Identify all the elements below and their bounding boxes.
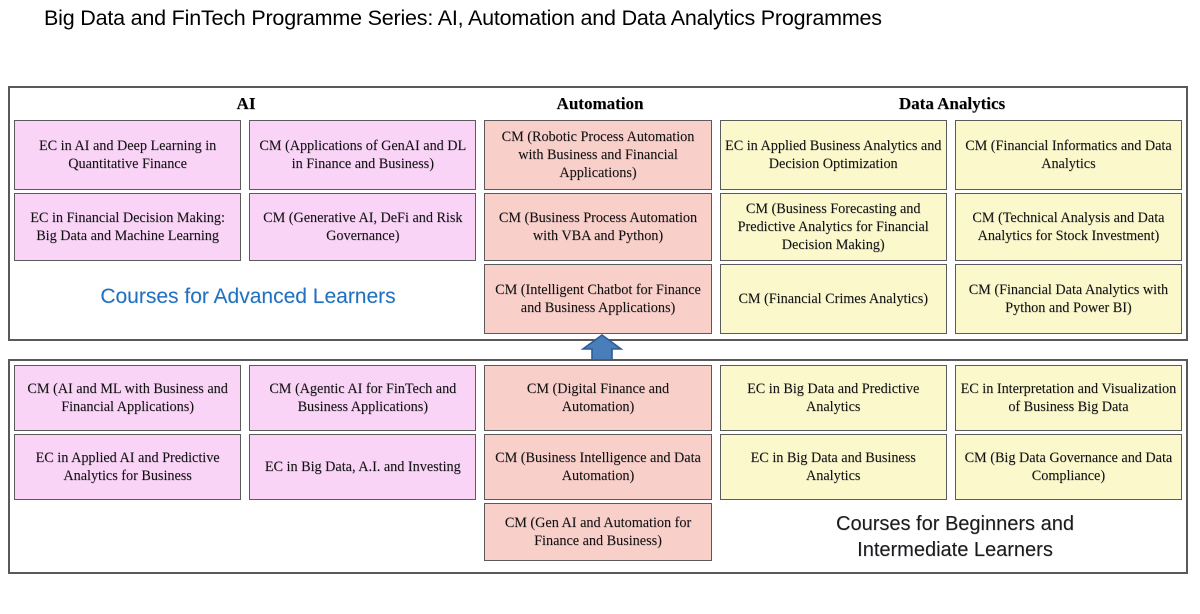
course-cell[interactable]: CM (Technical Analysis and Data Analytic… <box>955 193 1182 261</box>
course-cell[interactable]: EC in Applied Business Analytics and Dec… <box>720 120 947 190</box>
course-cell[interactable]: CM (Business Intelligence and Data Autom… <box>484 434 711 500</box>
column-header-automation: Automation <box>482 88 718 120</box>
beginner-automation-column: CM (Digital Finance and Automation) CM (… <box>480 365 715 564</box>
course-cell[interactable]: CM (Intelligent Chatbot for Finance and … <box>484 264 711 334</box>
page-title: Big Data and FinTech Programme Series: A… <box>44 6 1164 31</box>
course-cell[interactable]: CM (Gen AI and Automation for Finance an… <box>484 503 711 561</box>
course-cell[interactable]: CM (Business Process Automation with VBA… <box>484 193 711 261</box>
course-cell[interactable]: CM (Robotic Process Automation with Busi… <box>484 120 711 190</box>
course-cell[interactable]: CM (Applications of GenAI and DL in Fina… <box>249 120 476 190</box>
course-cell[interactable]: EC in Applied AI and Predictive Analytic… <box>14 434 241 500</box>
course-cell[interactable]: CM (Big Data Governance and Data Complia… <box>955 434 1182 500</box>
beginner-caption-line-2: Intermediate Learners <box>720 537 1190 563</box>
course-cell[interactable]: CM (AI and ML with Business and Financia… <box>14 365 241 431</box>
course-cell[interactable]: EC in Big Data and Business Analytics <box>720 434 947 500</box>
advanced-analytics-column-1: EC in Applied Business Analytics and Dec… <box>716 120 951 337</box>
advanced-learners-caption: Courses for Advanced Learners <box>8 283 488 310</box>
course-cell[interactable]: CM (Financial Informatics and Data Analy… <box>955 120 1182 190</box>
beginner-caption-line-1: Courses for Beginners and <box>720 511 1190 537</box>
course-cell[interactable]: EC in Big Data, A.I. and Investing <box>249 434 476 500</box>
beginner-ai-column-1: CM (AI and ML with Business and Financia… <box>10 365 245 564</box>
course-cell[interactable]: EC in Big Data and Predictive Analytics <box>720 365 947 431</box>
beginner-ai-column-2: CM (Agentic AI for FinTech and Business … <box>245 365 480 564</box>
course-cell[interactable]: CM (Business Forecasting and Predictive … <box>720 193 947 261</box>
column-header-ai: AI <box>10 88 482 120</box>
course-cell[interactable]: CM (Financial Crimes Analytics) <box>720 264 947 334</box>
course-cell[interactable]: CM (Agentic AI for FinTech and Business … <box>249 365 476 431</box>
course-cell[interactable]: CM (Financial Data Analytics with Python… <box>955 264 1182 334</box>
course-cell[interactable]: EC in AI and Deep Learning in Quantitati… <box>14 120 241 190</box>
course-cell[interactable]: EC in Interpretation and Visualization o… <box>955 365 1182 431</box>
course-cell[interactable]: EC in Financial Decision Making: Big Dat… <box>14 193 241 261</box>
column-header-data-analytics: Data Analytics <box>718 88 1186 120</box>
course-cell[interactable]: CM (Generative AI, DeFi and Risk Governa… <box>249 193 476 261</box>
advanced-automation-column: CM (Robotic Process Automation with Busi… <box>480 120 715 337</box>
advanced-analytics-column-2: CM (Financial Informatics and Data Analy… <box>951 120 1186 337</box>
beginner-intermediate-caption: Courses for Beginners and Intermediate L… <box>720 511 1190 563</box>
course-cell[interactable]: CM (Digital Finance and Automation) <box>484 365 711 431</box>
column-header-row: AI Automation Data Analytics <box>10 88 1186 120</box>
